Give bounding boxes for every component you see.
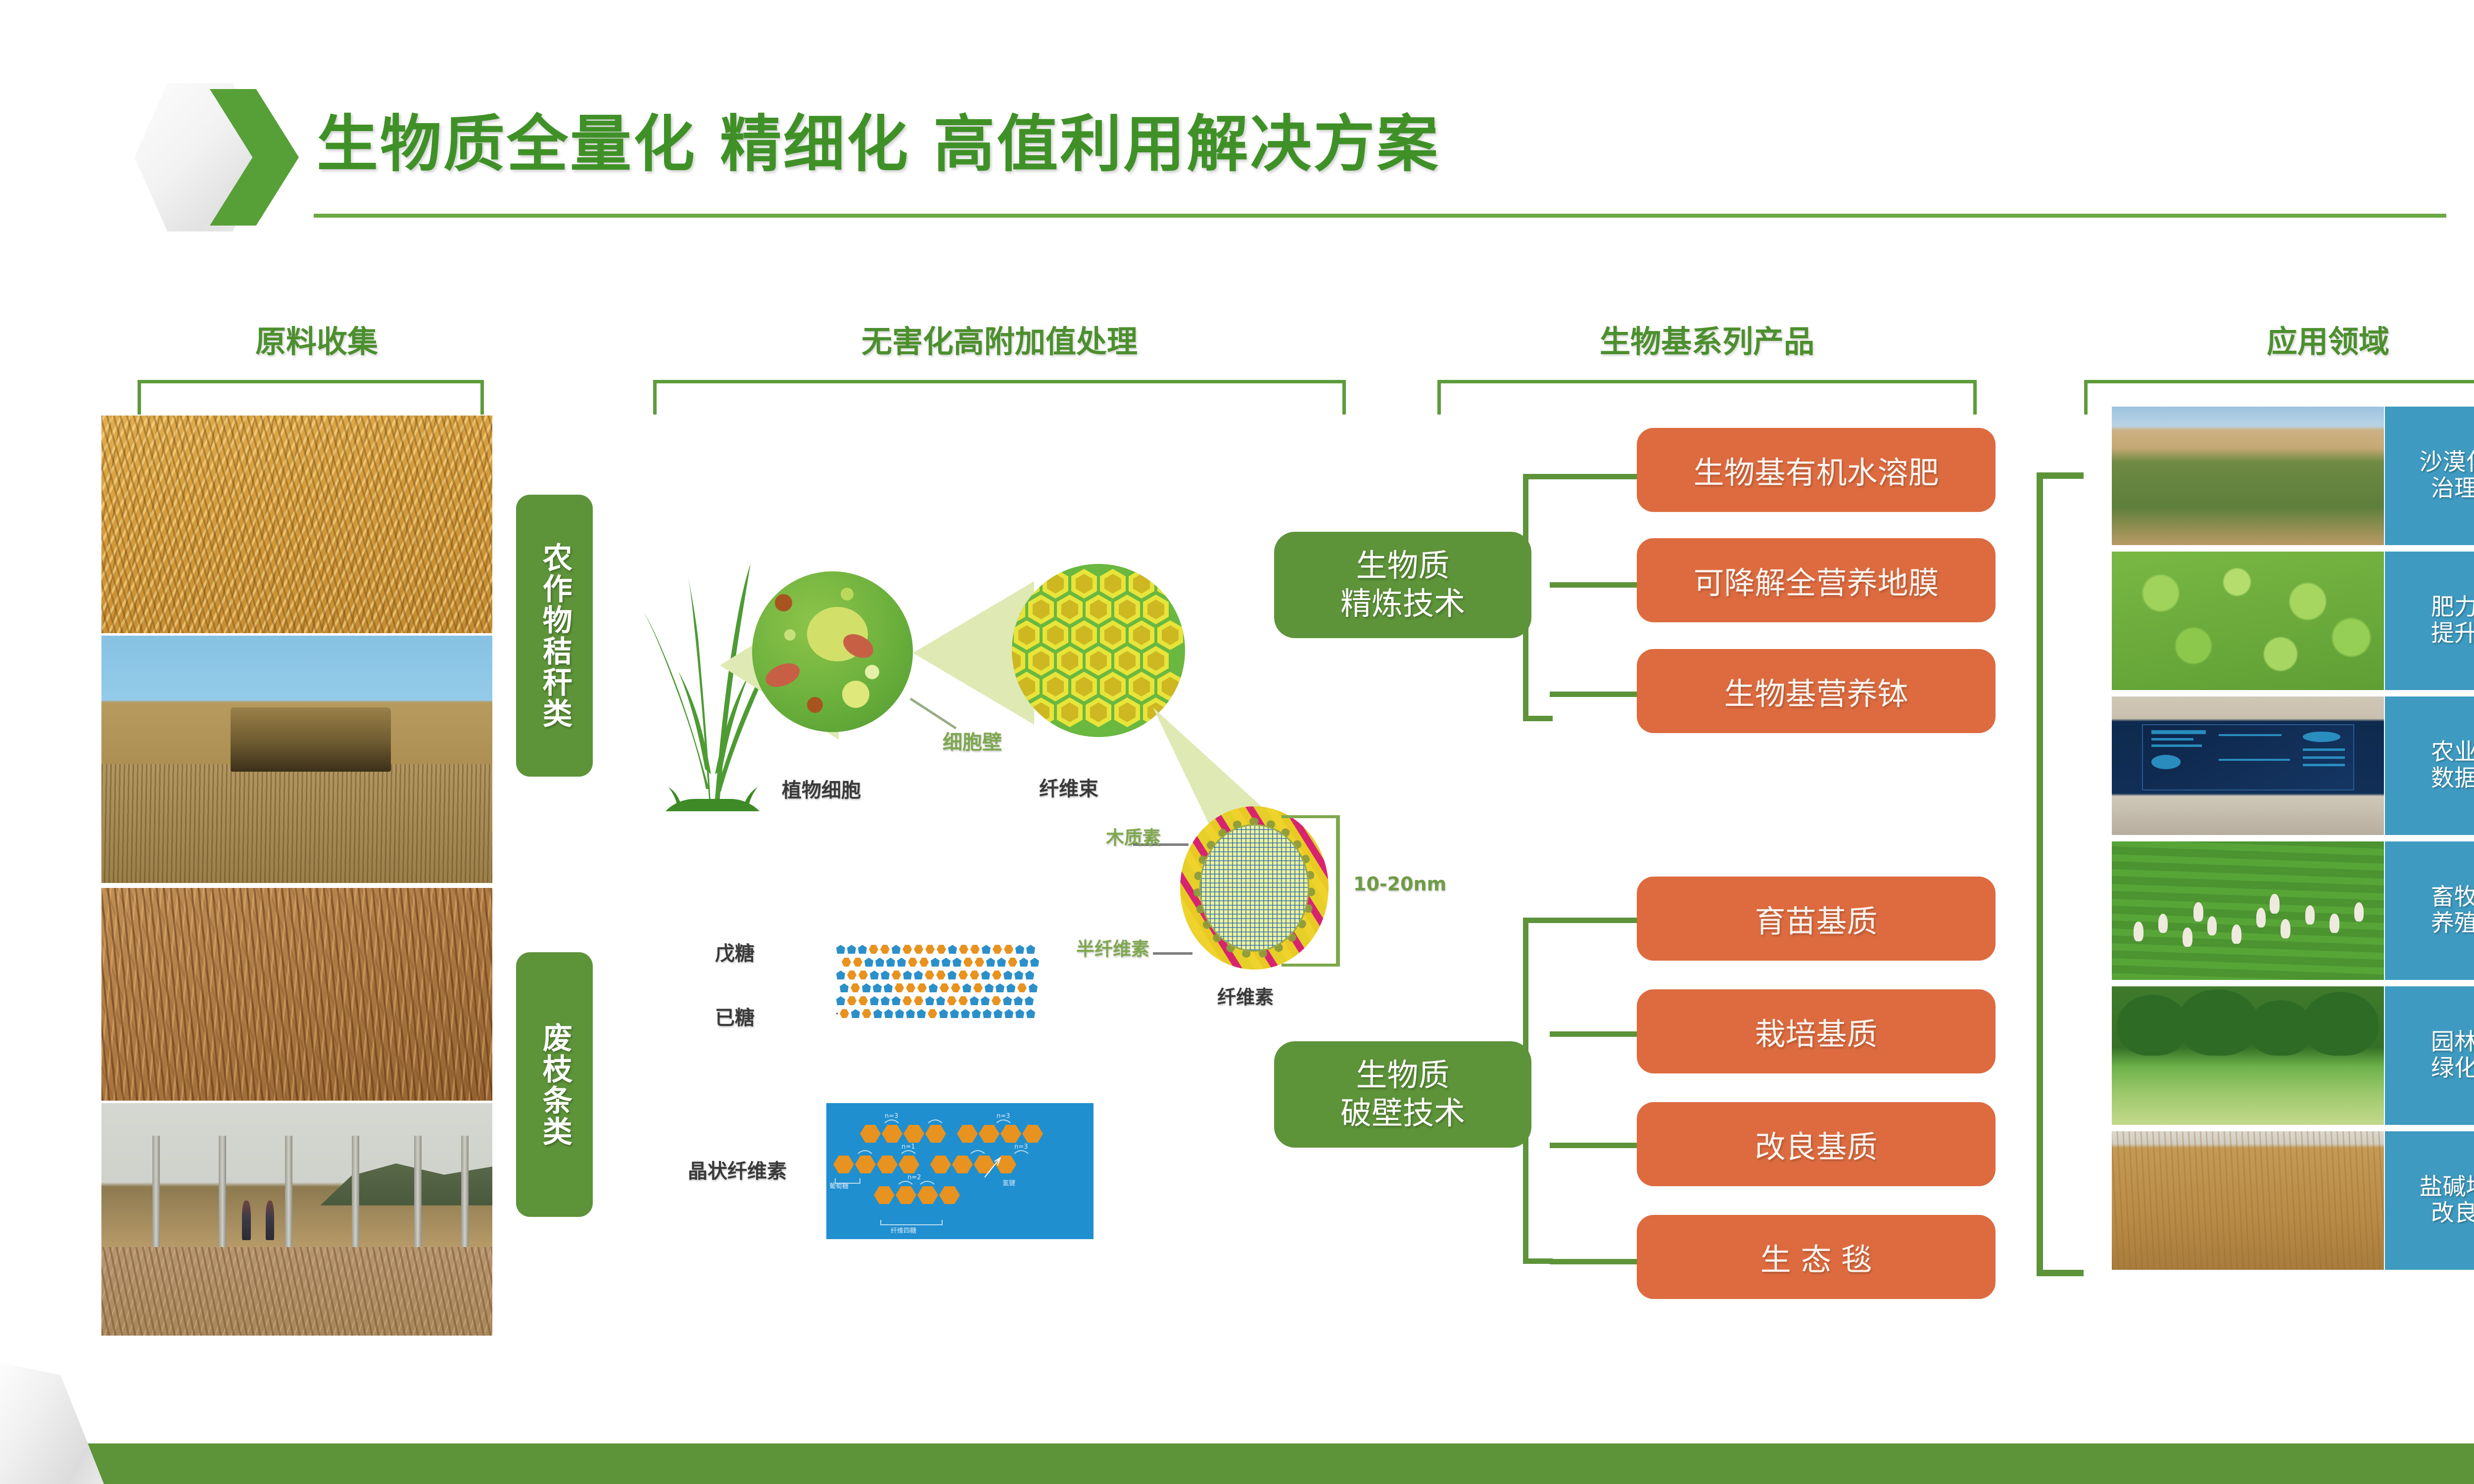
- product-label: 生 态 毯: [1760, 1235, 1872, 1279]
- svg-text:n=3: n=3: [885, 1113, 898, 1120]
- svg-text:n=2: n=2: [907, 1174, 921, 1181]
- tag-waste-branches: 废枝条类: [516, 952, 593, 1217]
- product-box-ecological-blanket[interactable]: 生 态 毯: [1637, 1215, 1996, 1299]
- product-label: 生物基营养钵: [1724, 669, 1908, 713]
- dimension-tick-top: [1282, 815, 1340, 818]
- infographic-page: 生物质全量化 精细化 高值利用解决方案 原料收集 无害化高附加值处理 生物基系列…: [0, 0, 2474, 1484]
- hexagon-badge-icon: [135, 83, 283, 232]
- svg-text:氢键: 氢键: [1002, 1180, 1015, 1187]
- product-label: 育苗基质: [1755, 896, 1877, 941]
- column-bracket-products: [1437, 380, 1977, 415]
- tech-box-cellwall-label: 生物质 破壁技术: [1340, 1057, 1465, 1133]
- cabbage-field-photo: [2112, 552, 2384, 690]
- park-landscape-photo: [2112, 986, 2384, 1125]
- tech-box-refining-label: 生物质 精炼技术: [1340, 547, 1465, 623]
- svg-text:葡萄糖: 葡萄糖: [829, 1182, 849, 1190]
- app-label-fertility[interactable]: 肥力 提升: [2385, 552, 2474, 690]
- app-label-agri-data[interactable]: 农业 数据: [2385, 696, 2474, 835]
- tech-box-cellwall[interactable]: 生物质 破壁技术: [1274, 1041, 1531, 1148]
- label-pentose: 戊糖: [715, 937, 755, 966]
- connector-bracket-cellwall: [1523, 918, 1553, 1264]
- dimension-bar: [1336, 815, 1340, 967]
- product-label: 生物基有机水溶肥: [1693, 448, 1939, 492]
- orchard-pruning-photo: [101, 1103, 492, 1336]
- connector-bracket-refining: [1523, 474, 1553, 721]
- app-label-text: 盐碱地 改良: [2420, 1174, 2474, 1226]
- bottom-green-bar: [0, 1443, 2474, 1484]
- connector-bracket-applications: [2037, 472, 2084, 1276]
- label-fiber-bundle: 纤维束: [1039, 773, 1098, 801]
- column-header-products: 生物基系列产品: [1430, 317, 1984, 361]
- column-header-apps: 应用领域: [2078, 317, 2474, 361]
- app-label-text: 园林 绿化: [2431, 1029, 2474, 1081]
- product-label: 栽培基质: [1755, 1009, 1877, 1054]
- tech-box-refining[interactable]: 生物质 精炼技术: [1274, 532, 1531, 638]
- dimension-tick-bottom: [1282, 964, 1340, 967]
- svg-text:n=3: n=3: [1014, 1143, 1028, 1151]
- app-label-text: 沙漠化 治理: [2420, 450, 2474, 502]
- app-label-desert[interactable]: 沙漠化 治理: [2385, 407, 2474, 545]
- label-cellulose: 纤维素: [1217, 982, 1274, 1009]
- label-cell-wall: 细胞壁: [943, 726, 1002, 755]
- product-label: 可降解全营养地膜: [1693, 558, 1939, 603]
- crystalline-cellulose-diagram: n=3n=3 n=1n=3 n=2 葡萄糖 纤维四糖 氢键: [826, 1103, 1094, 1239]
- app-label-livestock[interactable]: 畜牧 养殖: [2385, 841, 2474, 980]
- svg-text:纤维四糖: 纤维四糖: [891, 1227, 916, 1235]
- label-plant-cell: 植物细胞: [782, 774, 861, 803]
- label-hexose: 已糖: [715, 1002, 755, 1030]
- product-box-seedling-substrate[interactable]: 育苗基质: [1637, 877, 1996, 961]
- product-box-water-soluble-fertilizer[interactable]: 生物基有机水溶肥: [1637, 428, 1996, 512]
- product-label: 改良基质: [1755, 1122, 1877, 1166]
- plant-cell-illustration: [752, 571, 913, 732]
- page-title: 生物质全量化 精细化 高值利用解决方案: [317, 94, 1440, 183]
- title-underline: [314, 214, 2446, 218]
- app-label-text: 畜牧 养殖: [2431, 884, 2474, 936]
- label-lignin: 木质素: [1106, 823, 1161, 849]
- desert-restoration-photo: [2112, 407, 2384, 545]
- svg-text:n=3: n=3: [997, 1113, 1010, 1120]
- column-bracket-raw: [138, 380, 484, 415]
- product-box-improvement-substrate[interactable]: 改良基质: [1637, 1102, 1996, 1186]
- agriculture-data-center-photo: [2112, 696, 2384, 835]
- app-label-landscaping[interactable]: 园林 绿化: [2385, 986, 2474, 1125]
- bottom-left-wedge-decoration: [0, 1360, 104, 1484]
- app-label-text: 农业 数据: [2431, 740, 2474, 791]
- product-box-cultivation-substrate[interactable]: 栽培基质: [1637, 989, 1996, 1073]
- column-bracket-process: [653, 380, 1346, 415]
- corn-stalk-field-photo: [101, 416, 492, 633]
- product-box-nutrient-pot[interactable]: 生物基营养钵: [1637, 649, 1996, 733]
- sheep-grazing-photo: [2112, 841, 2384, 980]
- column-header-process: 无害化高附加值处理: [653, 317, 1346, 361]
- tag-crop-straw: 农作物秸秆类: [516, 495, 593, 777]
- fiber-cross-section-illustration: [1180, 806, 1329, 970]
- label-crystalline-cellulose: 晶状纤维素: [688, 1155, 787, 1184]
- saline-alkali-land-photo: [2112, 1131, 2384, 1270]
- sugar-chain-diagram: [836, 945, 1145, 1083]
- label-dimension: 10-20nm: [1353, 873, 1446, 895]
- product-box-biodegradable-mulch-film[interactable]: 可降解全营养地膜: [1637, 538, 1996, 622]
- column-header-raw: 原料收集: [163, 317, 470, 361]
- straw-bale-photo: [101, 636, 492, 883]
- hemicellulose-leader-line: [1153, 952, 1192, 955]
- dry-branches-photo: [101, 888, 492, 1101]
- app-label-text: 肥力 提升: [2431, 595, 2474, 647]
- app-label-saline-land[interactable]: 盐碱地 改良: [2385, 1131, 2474, 1270]
- svg-text:n=1: n=1: [902, 1143, 915, 1151]
